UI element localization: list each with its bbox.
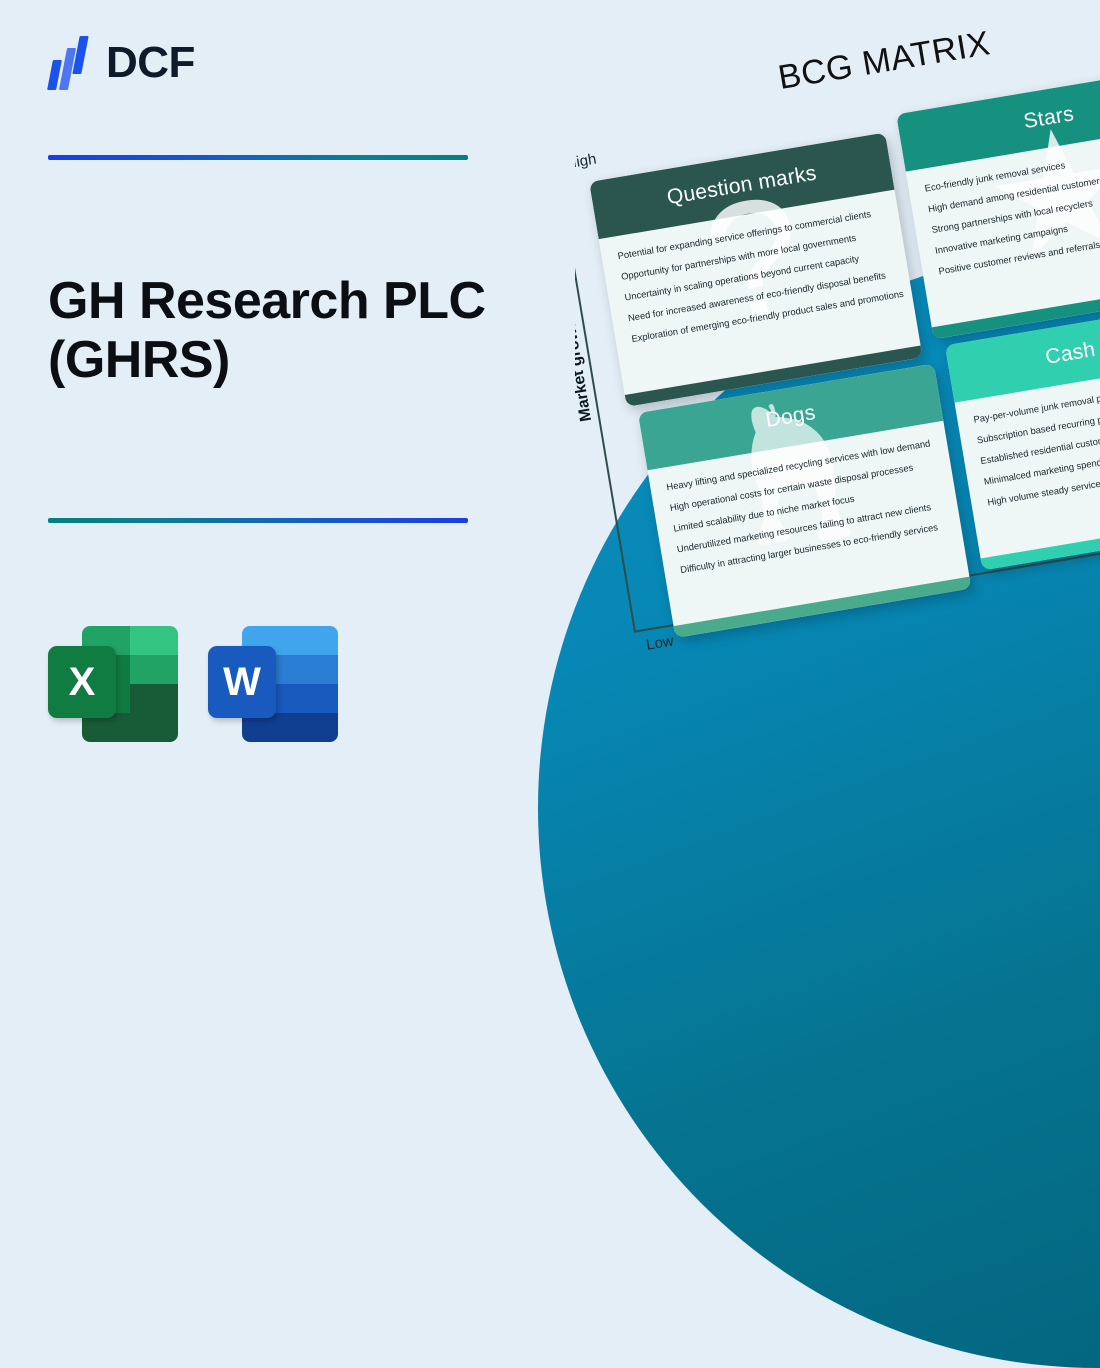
cover-left-panel: DCF GH Research PLC (GHRS) X W: [0, 0, 560, 805]
word-letter-badge: W: [208, 646, 276, 718]
excel-file-icon[interactable]: X: [48, 620, 178, 748]
divider-top: [48, 155, 468, 160]
brand-logo-text: DCF: [106, 41, 195, 85]
quadrant-stars: Stars ★ Eco-friendly junk removal servic…: [896, 65, 1100, 339]
bar-chart-logo-icon: [48, 36, 92, 90]
quadrant-cash-cows: Cash cows Pay-per-volume junk removal pr…: [945, 296, 1100, 570]
y-axis-high-label: High: [575, 151, 598, 173]
quadrant-footer-bar: [981, 509, 1100, 570]
y-axis-label: Market growth: [575, 312, 596, 423]
bcg-matrix-heading: BCG MATRIX: [775, 5, 1100, 98]
quadrant-question-marks: Question marks ? Potential for expanding…: [589, 132, 923, 406]
word-file-icon[interactable]: W: [208, 620, 338, 748]
quadrant-footer-bar: [674, 577, 972, 638]
excel-letter-badge: X: [48, 646, 116, 718]
page-title: GH Research PLC (GHRS): [48, 272, 528, 391]
download-format-icons: X W: [48, 620, 338, 748]
y-axis-low-label: Low: [645, 632, 675, 653]
quadrant-dogs: Dogs Heavy lifting and specialized recyc…: [638, 364, 972, 638]
bcg-matrix-illustration: BCG MATRIX High Low Market growth Market…: [575, 0, 1100, 805]
brand-logo: DCF: [48, 36, 195, 90]
divider-bottom: [48, 518, 468, 523]
page-title-line-2: (GHRS): [48, 331, 528, 390]
page-title-line-1: GH Research PLC: [48, 272, 528, 331]
